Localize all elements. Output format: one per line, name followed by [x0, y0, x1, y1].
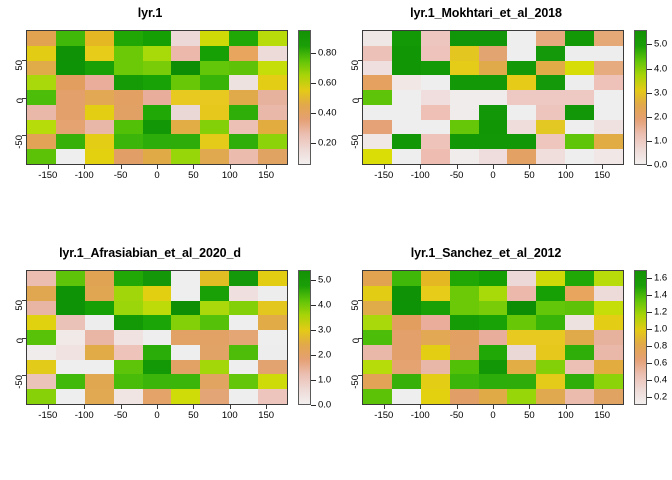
raster-cell — [363, 31, 392, 46]
raster-cell — [565, 149, 594, 164]
raster-cell — [229, 105, 258, 120]
raster-cell — [85, 46, 114, 61]
raster-cell — [258, 315, 287, 330]
raster-cell — [565, 389, 594, 404]
raster-cell — [479, 120, 508, 135]
raster-cell — [200, 271, 229, 286]
x-axis-tick-label: 100 — [558, 410, 574, 421]
raster-cell — [200, 360, 229, 375]
x-axis-tick — [48, 165, 49, 169]
colorbar-tick-label: 1.0 — [654, 324, 667, 335]
raster-cell — [85, 90, 114, 105]
raster-cell — [258, 120, 287, 135]
raster-cell — [171, 286, 200, 301]
raster-cell — [565, 75, 594, 90]
raster-cell — [200, 120, 229, 135]
x-axis: -150-100-50050100150 — [26, 165, 288, 191]
raster-cell — [536, 286, 565, 301]
raster-cell — [258, 301, 287, 316]
raster-cell — [450, 374, 479, 389]
raster-cell — [594, 134, 623, 149]
raster-cell — [114, 389, 143, 404]
raster-cell — [27, 105, 56, 120]
raster-cell — [450, 75, 479, 90]
raster-cell — [27, 46, 56, 61]
raster-cell — [450, 134, 479, 149]
raster-cell — [114, 360, 143, 375]
raster-cell — [85, 301, 114, 316]
x-axis-tick — [602, 405, 603, 409]
raster-cell — [171, 389, 200, 404]
raster-cell — [450, 149, 479, 164]
raster-cell — [479, 271, 508, 286]
raster-cell — [143, 149, 172, 164]
raster-cell — [507, 75, 536, 90]
x-axis-tick — [457, 165, 458, 169]
colorbar-tick — [311, 405, 316, 406]
raster-cell — [363, 105, 392, 120]
x-axis-tick — [566, 405, 567, 409]
raster-cell — [565, 271, 594, 286]
raster-cell — [258, 46, 287, 61]
raster-cell — [392, 345, 421, 360]
colorbar-tick-label: 5.0 — [654, 39, 667, 50]
raster-cell — [171, 134, 200, 149]
raster-cell — [363, 134, 392, 149]
y-axis-tick-label: 0 — [351, 338, 362, 343]
raster-cell — [56, 286, 85, 301]
panel-title: lyr.1_Sanchez_et_al_2012 — [336, 246, 636, 260]
raster-cell — [143, 61, 172, 76]
raster-cell — [392, 149, 421, 164]
x-axis-tick-label: 150 — [594, 410, 610, 421]
raster-cell — [536, 75, 565, 90]
raster-cell — [171, 31, 200, 46]
y-axis-tick-label: -50 — [15, 135, 26, 149]
x-axis-tick — [566, 165, 567, 169]
plot-area — [26, 30, 288, 165]
raster-cell — [594, 31, 623, 46]
raster-cell — [507, 46, 536, 61]
y-axis: 500-50 — [344, 270, 362, 405]
raster-cell — [27, 360, 56, 375]
raster-cell — [200, 345, 229, 360]
raster-cell — [594, 360, 623, 375]
colorbar-tick-label: 3.0 — [654, 87, 667, 98]
raster-cell — [27, 345, 56, 360]
raster-cell — [536, 374, 565, 389]
raster-cell — [594, 330, 623, 345]
raster-cell — [507, 345, 536, 360]
raster-cell — [536, 149, 565, 164]
raster-cell — [565, 330, 594, 345]
raster-cell — [421, 90, 450, 105]
colorbar-tick — [647, 44, 652, 45]
raster-cell — [85, 315, 114, 330]
raster-cell — [507, 286, 536, 301]
raster-cell — [171, 360, 200, 375]
raster-cell — [363, 149, 392, 164]
raster-cell — [56, 61, 85, 76]
raster-cell — [450, 90, 479, 105]
raster-cell — [507, 149, 536, 164]
heatmap-panel-0: lyr.1-150-100-50050100150500-500.200.400… — [0, 0, 336, 240]
raster-cell — [363, 90, 392, 105]
colorbar-gradient — [634, 270, 647, 405]
raster-cell — [56, 120, 85, 135]
x-axis-tick-label: -150 — [374, 410, 393, 421]
raster-cell — [421, 315, 450, 330]
raster-cell — [114, 374, 143, 389]
raster-cell — [450, 389, 479, 404]
raster-cell — [363, 360, 392, 375]
raster-cell — [479, 134, 508, 149]
raster-cell — [114, 315, 143, 330]
raster-cell — [479, 149, 508, 164]
raster-cell — [536, 105, 565, 120]
raster-cell — [143, 105, 172, 120]
colorbar-tick-label: 1.0 — [318, 375, 331, 386]
raster-cell — [565, 120, 594, 135]
raster-cell — [392, 374, 421, 389]
colorbar-tick — [647, 295, 652, 296]
raster-cell — [450, 120, 479, 135]
panel-title: lyr.1 — [0, 6, 300, 20]
x-axis-tick — [230, 165, 231, 169]
raster-cell — [507, 120, 536, 135]
raster-cell — [56, 374, 85, 389]
raster-cell — [479, 61, 508, 76]
raster-cell — [363, 389, 392, 404]
raster-cell — [421, 120, 450, 135]
x-axis-tick — [529, 165, 530, 169]
colorbar-tick — [647, 93, 652, 94]
x-axis-tick-label: 150 — [258, 170, 274, 181]
raster-cell — [507, 315, 536, 330]
colorbar-tick-label: 3.0 — [318, 325, 331, 336]
x-axis-tick — [230, 405, 231, 409]
x-axis: -150-100-50050100150 — [362, 405, 624, 431]
raster-cell — [143, 271, 172, 286]
x-axis-tick-label: -150 — [38, 410, 57, 421]
raster-cell — [200, 286, 229, 301]
raster-cell — [85, 389, 114, 404]
raster-cell — [85, 330, 114, 345]
raster-cell — [421, 301, 450, 316]
raster-cell — [421, 61, 450, 76]
raster-grid — [27, 271, 287, 404]
raster-cell — [143, 75, 172, 90]
raster-cell — [536, 61, 565, 76]
raster-cell — [27, 31, 56, 46]
raster-grid — [27, 31, 287, 164]
raster-cell — [565, 301, 594, 316]
x-axis-tick-label: -150 — [374, 170, 393, 181]
raster-cell — [594, 286, 623, 301]
raster-cell — [565, 46, 594, 61]
raster-cell — [229, 330, 258, 345]
raster-cell — [114, 46, 143, 61]
raster-cell — [56, 149, 85, 164]
raster-cell — [171, 345, 200, 360]
raster-cell — [507, 389, 536, 404]
x-axis-tick-label: -50 — [114, 170, 128, 181]
raster-cell — [392, 330, 421, 345]
y-axis-tick-label: 50 — [351, 300, 362, 311]
raster-cell — [565, 315, 594, 330]
x-axis-tick-label: 50 — [524, 170, 535, 181]
raster-cell — [421, 31, 450, 46]
raster-grid — [363, 271, 623, 404]
x-axis-tick-label: -100 — [411, 170, 430, 181]
raster-cell — [565, 31, 594, 46]
raster-cell — [229, 389, 258, 404]
x-axis-tick — [266, 165, 267, 169]
raster-cell — [171, 90, 200, 105]
raster-cell — [536, 389, 565, 404]
colorbar-tick-label: 0.2 — [654, 391, 667, 402]
raster-cell — [56, 75, 85, 90]
x-axis-tick-label: -100 — [411, 410, 430, 421]
raster-cell — [565, 90, 594, 105]
raster-cell — [507, 360, 536, 375]
figure-canvas: lyr.1-150-100-50050100150500-500.200.400… — [0, 0, 672, 480]
raster-cell — [450, 345, 479, 360]
raster-cell — [200, 149, 229, 164]
plot-area — [362, 30, 624, 165]
raster-cell — [479, 345, 508, 360]
raster-cell — [450, 315, 479, 330]
raster-cell — [56, 389, 85, 404]
raster-cell — [171, 75, 200, 90]
raster-cell — [450, 286, 479, 301]
raster-cell — [85, 271, 114, 286]
x-axis-tick — [193, 405, 194, 409]
raster-cell — [594, 75, 623, 90]
raster-cell — [421, 389, 450, 404]
raster-cell — [479, 374, 508, 389]
raster-cell — [85, 286, 114, 301]
panel-title: lyr.1_Afrasiabian_et_al_2020_d — [0, 246, 300, 260]
raster-cell — [85, 149, 114, 164]
raster-cell — [479, 31, 508, 46]
raster-cell — [421, 286, 450, 301]
raster-cell — [27, 90, 56, 105]
colorbar-tick — [647, 141, 652, 142]
colorbar-tick-label: 0.20 — [318, 137, 337, 148]
raster-cell — [536, 46, 565, 61]
raster-cell — [143, 330, 172, 345]
colorbar-tick-label: 4.0 — [318, 300, 331, 311]
panel-title: lyr.1_Mokhtari_et_al_2018 — [336, 6, 636, 20]
raster-cell — [565, 286, 594, 301]
y-axis-tick-label: -50 — [351, 375, 362, 389]
raster-cell — [536, 315, 565, 330]
plot-area — [362, 270, 624, 405]
colorbar-tick — [311, 113, 316, 114]
raster-cell — [200, 46, 229, 61]
raster-cell — [363, 330, 392, 345]
raster-cell — [114, 330, 143, 345]
x-axis-tick-label: -50 — [450, 410, 464, 421]
raster-cell — [363, 301, 392, 316]
x-axis-tick — [157, 165, 158, 169]
raster-cell — [536, 271, 565, 286]
raster-cell — [229, 46, 258, 61]
x-axis-tick-label: -50 — [450, 170, 464, 181]
heatmap-panel-2: lyr.1_Afrasiabian_et_al_2020_d-150-100-5… — [0, 240, 336, 480]
colorbar-tick-label: 1.6 — [654, 273, 667, 284]
x-axis-tick — [493, 405, 494, 409]
raster-cell — [565, 374, 594, 389]
colorbar-gradient — [634, 30, 647, 165]
x-axis-tick — [420, 165, 421, 169]
raster-cell — [479, 315, 508, 330]
raster-cell — [565, 360, 594, 375]
raster-cell — [114, 120, 143, 135]
raster-cell — [536, 360, 565, 375]
x-axis-tick — [157, 405, 158, 409]
x-axis-tick-label: 100 — [222, 170, 238, 181]
raster-cell — [56, 345, 85, 360]
raster-cell — [229, 134, 258, 149]
colorbar-tick — [647, 397, 652, 398]
raster-cell — [258, 105, 287, 120]
colorbar-tick — [311, 305, 316, 306]
raster-cell — [258, 330, 287, 345]
raster-cell — [363, 345, 392, 360]
raster-cell — [258, 90, 287, 105]
colorbar-tick — [647, 117, 652, 118]
raster-cell — [143, 286, 172, 301]
raster-cell — [200, 134, 229, 149]
raster-cell — [594, 374, 623, 389]
raster-cell — [114, 271, 143, 286]
raster-cell — [229, 315, 258, 330]
raster-cell — [594, 345, 623, 360]
raster-cell — [258, 286, 287, 301]
colorbar-gradient — [298, 270, 311, 405]
colorbar-tick — [647, 380, 652, 381]
raster-cell — [85, 374, 114, 389]
x-axis-tick — [384, 165, 385, 169]
raster-cell — [258, 374, 287, 389]
raster-cell — [421, 149, 450, 164]
raster-cell — [392, 105, 421, 120]
raster-cell — [450, 61, 479, 76]
raster-cell — [56, 105, 85, 120]
x-axis-tick-label: 50 — [524, 410, 535, 421]
raster-cell — [594, 105, 623, 120]
raster-cell — [143, 360, 172, 375]
raster-cell — [200, 61, 229, 76]
x-axis: -150-100-50050100150 — [362, 165, 624, 191]
raster-cell — [392, 46, 421, 61]
raster-cell — [229, 360, 258, 375]
raster-cell — [85, 31, 114, 46]
raster-cell — [171, 315, 200, 330]
x-axis-tick — [529, 405, 530, 409]
y-axis-tick-label: 0 — [15, 98, 26, 103]
raster-cell — [200, 301, 229, 316]
colorbar-tick — [311, 380, 316, 381]
raster-cell — [450, 46, 479, 61]
x-axis-tick — [48, 405, 49, 409]
raster-cell — [143, 31, 172, 46]
raster-cell — [507, 374, 536, 389]
raster-cell — [507, 90, 536, 105]
raster-cell — [392, 61, 421, 76]
x-axis-tick — [384, 405, 385, 409]
raster-cell — [507, 105, 536, 120]
colorbar-tick-label: 2.0 — [318, 350, 331, 361]
colorbar-tick-label: 0.4 — [654, 374, 667, 385]
colorbar-tick — [647, 363, 652, 364]
raster-cell — [229, 31, 258, 46]
raster-cell — [479, 330, 508, 345]
colorbar-tick — [311, 143, 316, 144]
raster-cell — [27, 120, 56, 135]
plot-area — [26, 270, 288, 405]
x-axis-tick — [121, 405, 122, 409]
colorbar-tick — [311, 355, 316, 356]
colorbar-tick-label: 1.4 — [654, 290, 667, 301]
raster-cell — [143, 389, 172, 404]
raster-cell — [392, 301, 421, 316]
raster-cell — [114, 105, 143, 120]
raster-cell — [56, 301, 85, 316]
raster-cell — [363, 75, 392, 90]
raster-cell — [392, 31, 421, 46]
x-axis-tick-label: -150 — [38, 170, 57, 181]
y-axis: 500-50 — [8, 30, 26, 165]
raster-cell — [171, 61, 200, 76]
colorbar-tick — [311, 330, 316, 331]
raster-cell — [594, 315, 623, 330]
raster-cell — [392, 389, 421, 404]
raster-cell — [421, 345, 450, 360]
raster-cell — [27, 389, 56, 404]
raster-cell — [594, 46, 623, 61]
colorbar-tick — [647, 69, 652, 70]
raster-cell — [392, 286, 421, 301]
raster-cell — [27, 75, 56, 90]
raster-cell — [258, 61, 287, 76]
raster-cell — [171, 374, 200, 389]
raster-cell — [56, 46, 85, 61]
raster-cell — [421, 75, 450, 90]
raster-cell — [363, 61, 392, 76]
raster-cell — [114, 75, 143, 90]
colorbar-tick — [311, 53, 316, 54]
raster-cell — [363, 315, 392, 330]
x-axis-tick-label: 150 — [258, 410, 274, 421]
y-axis: 500-50 — [344, 30, 362, 165]
raster-cell — [392, 75, 421, 90]
raster-cell — [229, 286, 258, 301]
raster-cell — [85, 120, 114, 135]
raster-cell — [143, 90, 172, 105]
raster-cell — [27, 149, 56, 164]
heatmap-panel-3: lyr.1_Sanchez_et_al_2012-150-100-5005010… — [336, 240, 672, 480]
x-axis-tick — [84, 165, 85, 169]
raster-cell — [565, 61, 594, 76]
raster-cell — [594, 120, 623, 135]
raster-cell — [450, 330, 479, 345]
raster-cell — [143, 120, 172, 135]
raster-cell — [594, 61, 623, 76]
raster-cell — [479, 105, 508, 120]
